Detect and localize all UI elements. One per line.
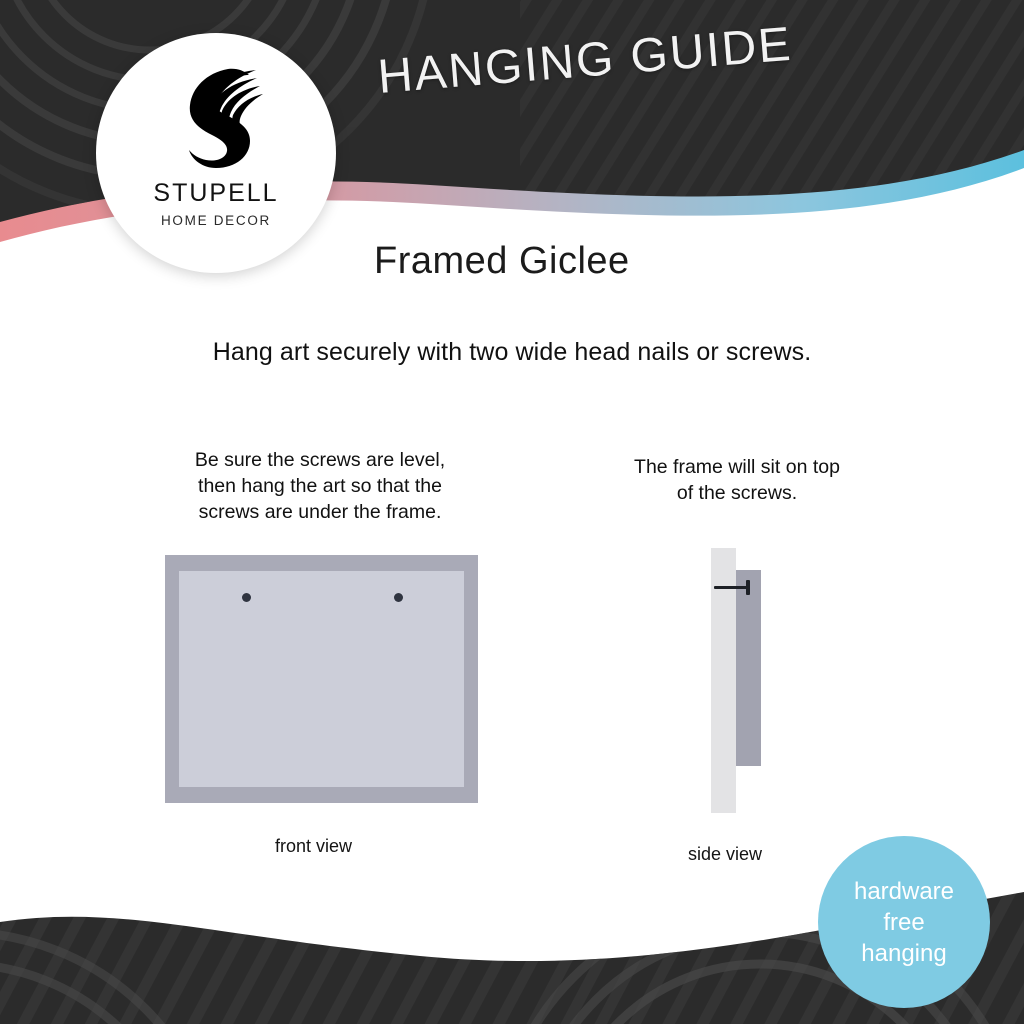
hanging-guide-page: STUPELL HOME DECOR HANGING GUIDE Framed … bbox=[0, 0, 1024, 1024]
side-caption-line-2: of the screws. bbox=[585, 480, 889, 506]
front-caption-line-3: screws are under the frame. bbox=[150, 499, 490, 525]
nail-shaft-icon bbox=[714, 586, 750, 589]
side-view-caption: The frame will sit on top of the screws. bbox=[585, 454, 889, 506]
front-caption-line-2: then hang the art so that the bbox=[150, 473, 490, 499]
screw-dot-left-icon bbox=[242, 593, 251, 602]
front-caption-line-1: Be sure the screws are level, bbox=[150, 447, 490, 473]
badge-line-1: hardware bbox=[854, 876, 954, 907]
brand-name: STUPELL bbox=[153, 179, 278, 208]
badge-line-2: free bbox=[883, 907, 924, 938]
front-view-label: front view bbox=[275, 836, 352, 857]
front-view-frame-inner bbox=[179, 571, 464, 787]
brand-logo-badge: STUPELL HOME DECOR bbox=[96, 33, 336, 273]
screw-dot-right-icon bbox=[394, 593, 403, 602]
side-view-frame-body bbox=[736, 570, 761, 766]
front-view-caption: Be sure the screws are level, then hang … bbox=[150, 447, 490, 525]
hardware-free-hanging-badge: hardware free hanging bbox=[818, 836, 990, 1008]
lead-instruction: Hang art securely with two wide head nai… bbox=[0, 338, 1024, 367]
stupell-swan-s-logo-icon bbox=[156, 61, 276, 173]
nail-head-icon bbox=[746, 580, 750, 595]
product-type-label: Framed Giclee bbox=[374, 240, 630, 283]
side-view-label: side view bbox=[688, 844, 762, 865]
front-view-frame-diagram bbox=[165, 555, 478, 803]
page-title: HANGING GUIDE bbox=[376, 17, 794, 105]
side-caption-line-1: The frame will sit on top bbox=[585, 454, 889, 480]
brand-tagline: HOME DECOR bbox=[161, 213, 271, 228]
badge-line-3: hanging bbox=[861, 938, 946, 969]
